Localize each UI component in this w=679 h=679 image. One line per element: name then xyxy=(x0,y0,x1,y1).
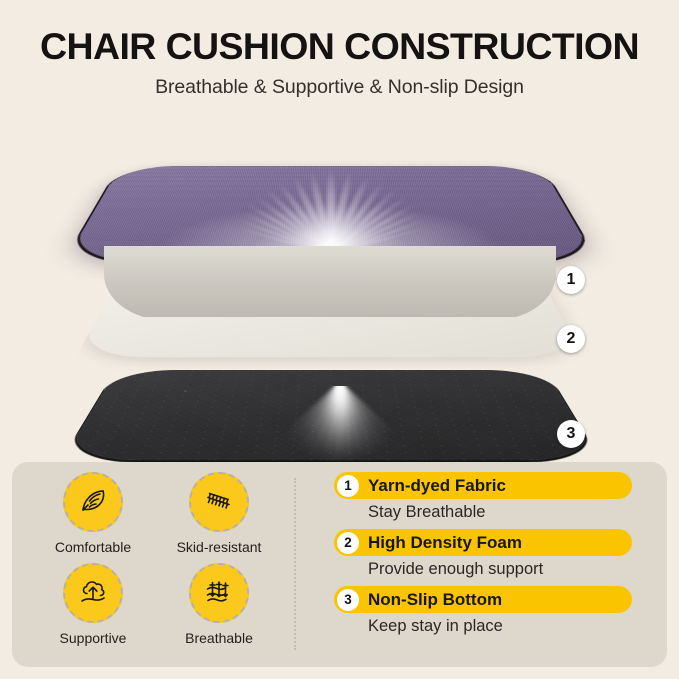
feature-label: Skid-resistant xyxy=(177,539,262,555)
layer-badge-3: 3 xyxy=(557,420,585,448)
numbered-feature-bar: 1 Yarn-dyed Fabric xyxy=(334,472,632,499)
numbered-feature-list: 1 Yarn-dyed Fabric Stay Breathable 2 Hig… xyxy=(334,472,656,643)
layer-badge-1: 1 xyxy=(557,266,585,294)
cloud-arrow-up-icon xyxy=(63,563,123,623)
feature-label: Supportive xyxy=(60,630,127,646)
numbered-feature-badge: 3 xyxy=(337,589,359,611)
feature-label: Breathable xyxy=(185,630,253,646)
numbered-feature-badge: 2 xyxy=(337,532,359,554)
feature-panel: Comfortable xyxy=(12,462,667,667)
page-title: CHAIR CUSHION CONSTRUCTION xyxy=(0,0,679,68)
numbered-feature-subtitle: Stay Breathable xyxy=(334,499,656,529)
feature-label: Comfortable xyxy=(55,539,131,555)
numbered-feature-3[interactable]: 3 Non-Slip Bottom Keep stay in place xyxy=(334,586,656,643)
numbered-feature-subtitle: Provide enough support xyxy=(334,556,656,586)
feature-icon-grid: Comfortable xyxy=(30,472,282,646)
numbered-feature-bar: 2 High Density Foam xyxy=(334,529,632,556)
non-slip-layer-surface xyxy=(62,370,600,460)
page-subtitle: Breathable & Supportive & Non-slip Desig… xyxy=(0,68,679,99)
numbered-feature-title: Non-Slip Bottom xyxy=(368,590,502,610)
numbered-feature-2[interactable]: 2 High Density Foam Provide enough suppo… xyxy=(334,529,656,586)
cushion-exploded-diagram: 1 2 3 xyxy=(0,100,679,460)
feature-breathable[interactable]: Breathable xyxy=(156,563,282,646)
numbered-feature-title: High Density Foam xyxy=(368,533,522,553)
numbered-feature-badge: 1 xyxy=(337,475,359,497)
grip-comb-icon xyxy=(189,472,249,532)
airflow-icon xyxy=(189,563,249,623)
numbered-feature-1[interactable]: 1 Yarn-dyed Fabric Stay Breathable xyxy=(334,472,656,529)
numbered-feature-subtitle: Keep stay in place xyxy=(334,613,656,643)
feather-icon xyxy=(63,472,123,532)
numbered-feature-bar: 3 Non-Slip Bottom xyxy=(334,586,632,613)
feature-supportive[interactable]: Supportive xyxy=(30,563,156,646)
numbered-feature-title: Yarn-dyed Fabric xyxy=(368,476,506,496)
layer-badge-2: 2 xyxy=(557,325,585,353)
feature-skid-resistant[interactable]: Skid-resistant xyxy=(156,472,282,555)
feature-comfortable[interactable]: Comfortable xyxy=(30,472,156,555)
header: CHAIR CUSHION CONSTRUCTION Breathable & … xyxy=(0,0,679,99)
panel-divider xyxy=(294,478,296,650)
